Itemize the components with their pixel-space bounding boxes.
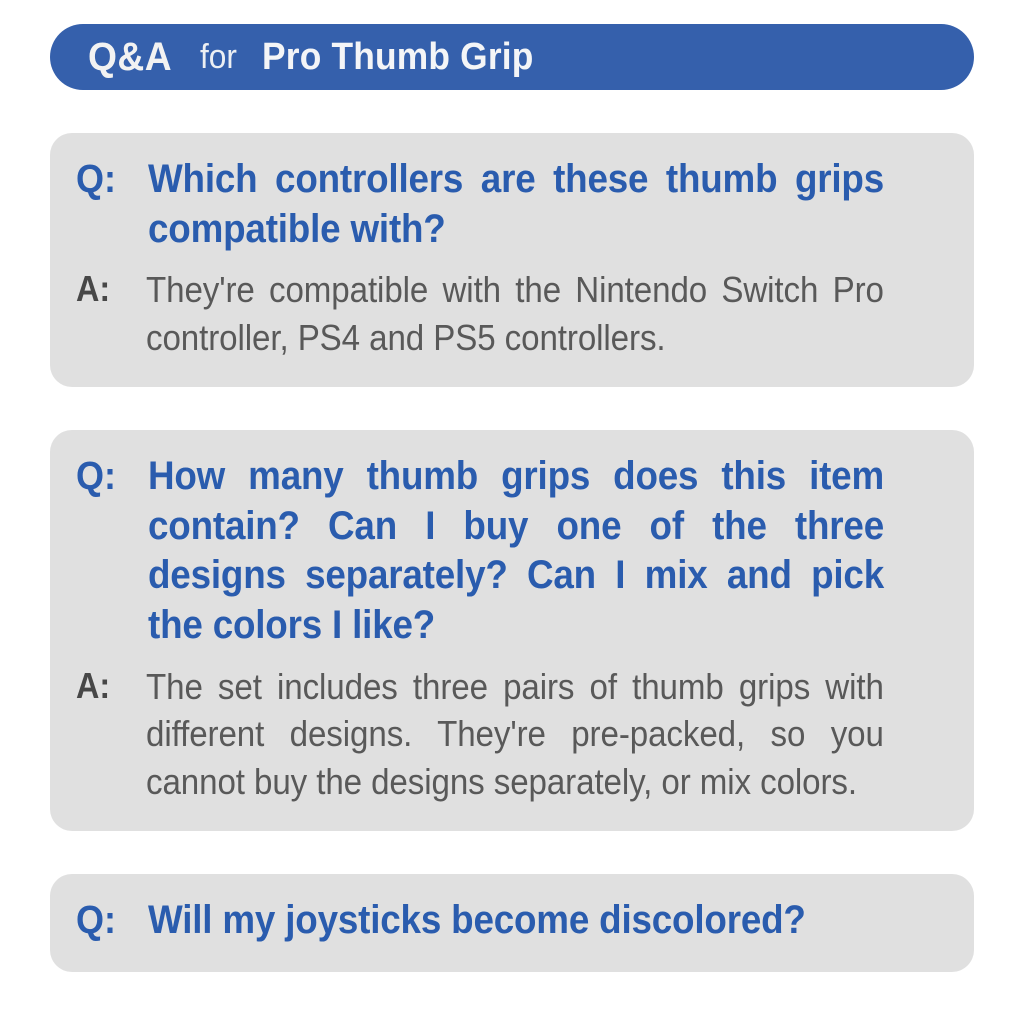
banner-product-name: Pro Thumb Grip xyxy=(262,38,534,76)
question-row: Q: Which controllers are these thumb gri… xyxy=(76,155,948,254)
question-label: Q: xyxy=(76,896,141,946)
answer-row: A: They're compatible with the Nintendo … xyxy=(76,266,948,361)
question-label: Q: xyxy=(76,155,141,205)
question-row: Q: Will my joysticks become discolored? xyxy=(76,896,948,946)
qa-header-banner: Q&A for Pro Thumb Grip xyxy=(50,24,974,90)
answer-text: The set includes three pairs of thumb gr… xyxy=(146,663,884,806)
answer-label: A: xyxy=(76,266,139,313)
question-text: Which controllers are these thumb grips … xyxy=(148,155,884,254)
faq-card: Q: Will my joysticks become discolored? xyxy=(50,874,974,972)
question-text: How many thumb grips does this item cont… xyxy=(148,452,884,650)
banner-connector: for xyxy=(200,40,237,74)
faq-card: Q: Which controllers are these thumb gri… xyxy=(50,133,974,387)
question-text: Will my joysticks become discolored? xyxy=(148,896,884,946)
question-row: Q: How many thumb grips does this item c… xyxy=(76,452,948,650)
answer-text: They're compatible with the Nintendo Swi… xyxy=(146,266,884,361)
answer-row: A: The set includes three pairs of thumb… xyxy=(76,663,948,806)
faq-card: Q: How many thumb grips does this item c… xyxy=(50,430,974,831)
answer-label: A: xyxy=(76,663,139,710)
banner-title: Q&A xyxy=(88,37,172,77)
qa-page: Q&A for Pro Thumb Grip Q: Which controll… xyxy=(0,0,1024,1024)
question-label: Q: xyxy=(76,452,141,502)
